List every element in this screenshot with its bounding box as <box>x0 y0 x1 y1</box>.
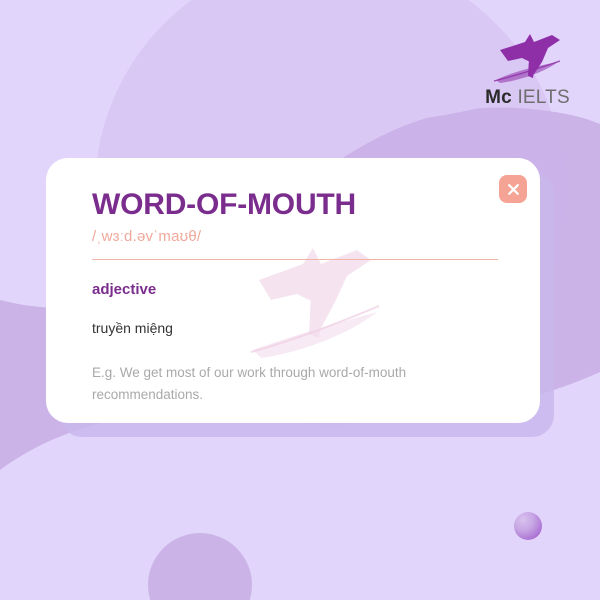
translation-text: truyền miệng <box>92 320 496 336</box>
decorative-sphere <box>514 512 542 540</box>
part-of-speech: adjective <box>92 281 496 298</box>
example-sentence: E.g. We get most of our work through wor… <box>92 362 452 405</box>
brand-logo: Mc IELTS <box>470 28 585 118</box>
brand-name-bold: Mc <box>485 87 512 108</box>
brand-name: Mc IELTS <box>470 88 585 107</box>
close-icon <box>506 182 521 197</box>
vocabulary-card: WORD-OF-MOUTH /ˌwɜːd.əvˈmaʊθ/ adjective … <box>46 158 540 423</box>
hummingbird-icon <box>470 28 585 86</box>
poster-canvas: Mc IELTS WORD-OF-MOUTH /ˌwɜːd.əvˈmaʊθ/ a… <box>0 0 600 600</box>
phonetic-transcription: /ˌwɜːd.əvˈmaʊθ/ <box>92 228 496 245</box>
close-button[interactable] <box>499 175 527 203</box>
brand-name-light: IELTS <box>517 87 569 108</box>
divider <box>92 259 498 260</box>
card-content: WORD-OF-MOUTH /ˌwɜːd.əvˈmaʊθ/ adjective … <box>46 158 540 405</box>
word-title: WORD-OF-MOUTH <box>92 188 496 221</box>
